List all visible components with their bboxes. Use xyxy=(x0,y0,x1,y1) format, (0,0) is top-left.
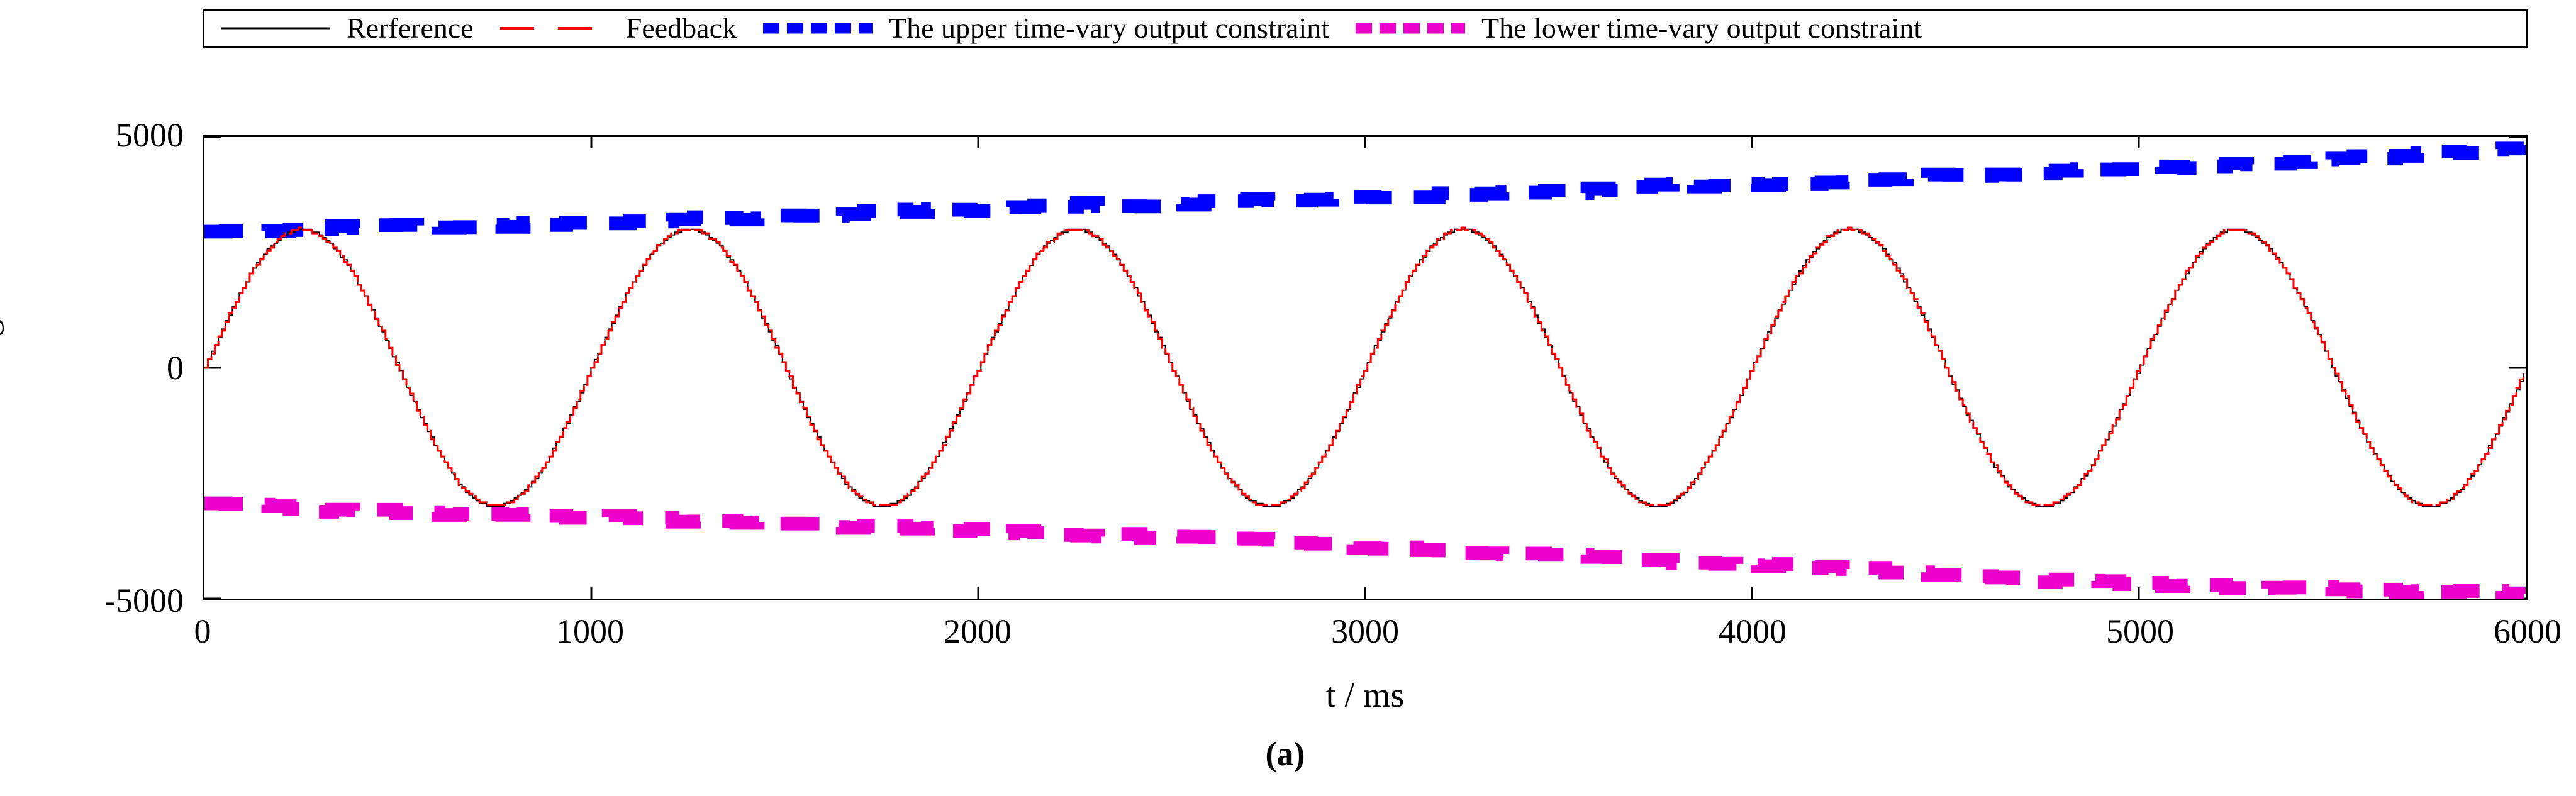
line-swatch-dashed-blue-icon xyxy=(758,14,878,43)
legend-label-lower-constraint: The lower time-vary output constraint xyxy=(1470,14,1943,43)
legend-label-upper-constraint: The upper time-vary output constraint xyxy=(878,14,1351,43)
x-tick-label-6000: 6000 xyxy=(2494,612,2562,651)
x-tick-label-4000: 4000 xyxy=(1719,612,1787,651)
x-axis-title: t / ms xyxy=(1326,675,1404,716)
y-tick-label-0: 0 xyxy=(0,348,184,387)
y-tick-label-5000: 5000 xyxy=(0,116,184,155)
line-swatch-solid-black-icon xyxy=(216,14,335,43)
x-tick-label-5000: 5000 xyxy=(2106,612,2174,651)
plot-area xyxy=(203,135,2528,600)
x-tick-label-3000: 3000 xyxy=(1331,612,1399,651)
figure-root: Rerference Feedback The upper time-vary … xyxy=(0,0,2576,796)
legend-item-rerference[interactable]: Rerference xyxy=(216,11,495,46)
x-tick-label-0: 0 xyxy=(194,612,211,651)
plot-canvas xyxy=(204,137,2526,599)
y-tick-label-neg5000: -5000 xyxy=(0,581,184,620)
x-tick-label-1000: 1000 xyxy=(556,612,624,651)
line-swatch-dashed-red-icon xyxy=(495,14,615,43)
legend-item-lower-constraint[interactable]: The lower time-vary output constraint xyxy=(1351,11,1943,46)
x-tick-label-2000: 2000 xyxy=(944,612,1012,651)
y-axis-title: The tracking force xyxy=(0,238,5,498)
figure-subcaption: (a) xyxy=(1266,734,1305,773)
legend-item-upper-constraint[interactable]: The upper time-vary output constraint xyxy=(758,11,1351,46)
legend-label-feedback: Feedback xyxy=(615,14,758,43)
line-swatch-dashed-magenta-icon xyxy=(1351,14,1470,43)
legend-item-feedback[interactable]: Feedback xyxy=(495,11,758,46)
chart-legend: Rerference Feedback The upper time-vary … xyxy=(203,9,2528,48)
legend-label-rerference: Rerference xyxy=(335,14,495,43)
